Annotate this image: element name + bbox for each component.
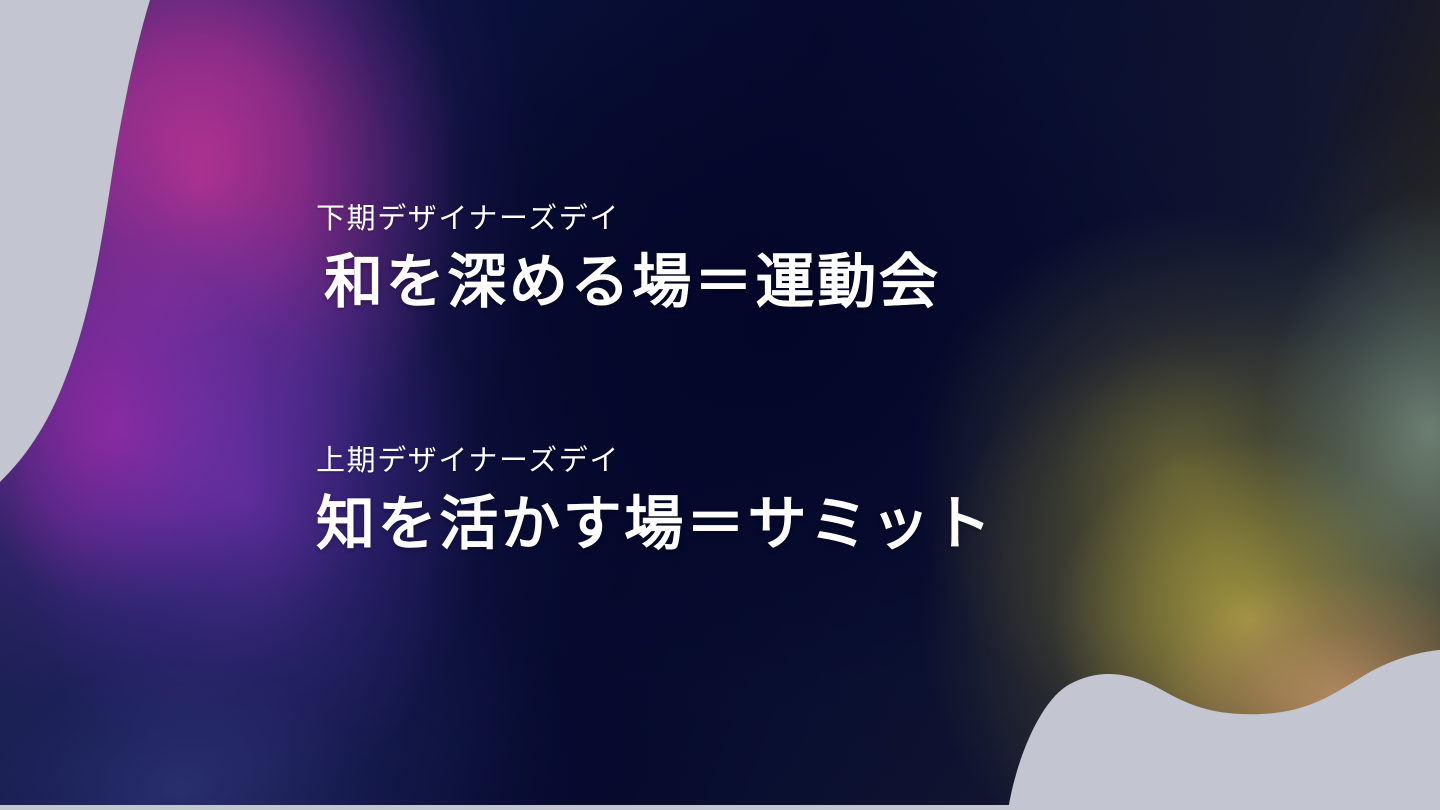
slide-content: 下期デザイナーズデイ 和を深める場＝運動会 上期デザイナーズデイ 知を活かす場＝… [0,0,1440,810]
headline-second-half: 和を深める場＝運動会 [324,245,941,321]
slide-canvas: 下期デザイナーズデイ 和を深める場＝運動会 上期デザイナーズデイ 知を活かす場＝… [0,0,1440,810]
text-block-first-half: 上期デザイナーズデイ 知を活かす場＝サミット [316,442,994,563]
eyebrow-second-half: 下期デザイナーズデイ [316,200,941,239]
eyebrow-first-half: 上期デザイナーズデイ [316,442,994,481]
headline-first-half: 知を活かす場＝サミット [316,487,994,563]
text-block-second-half: 下期デザイナーズデイ 和を深める場＝運動会 [316,200,941,321]
